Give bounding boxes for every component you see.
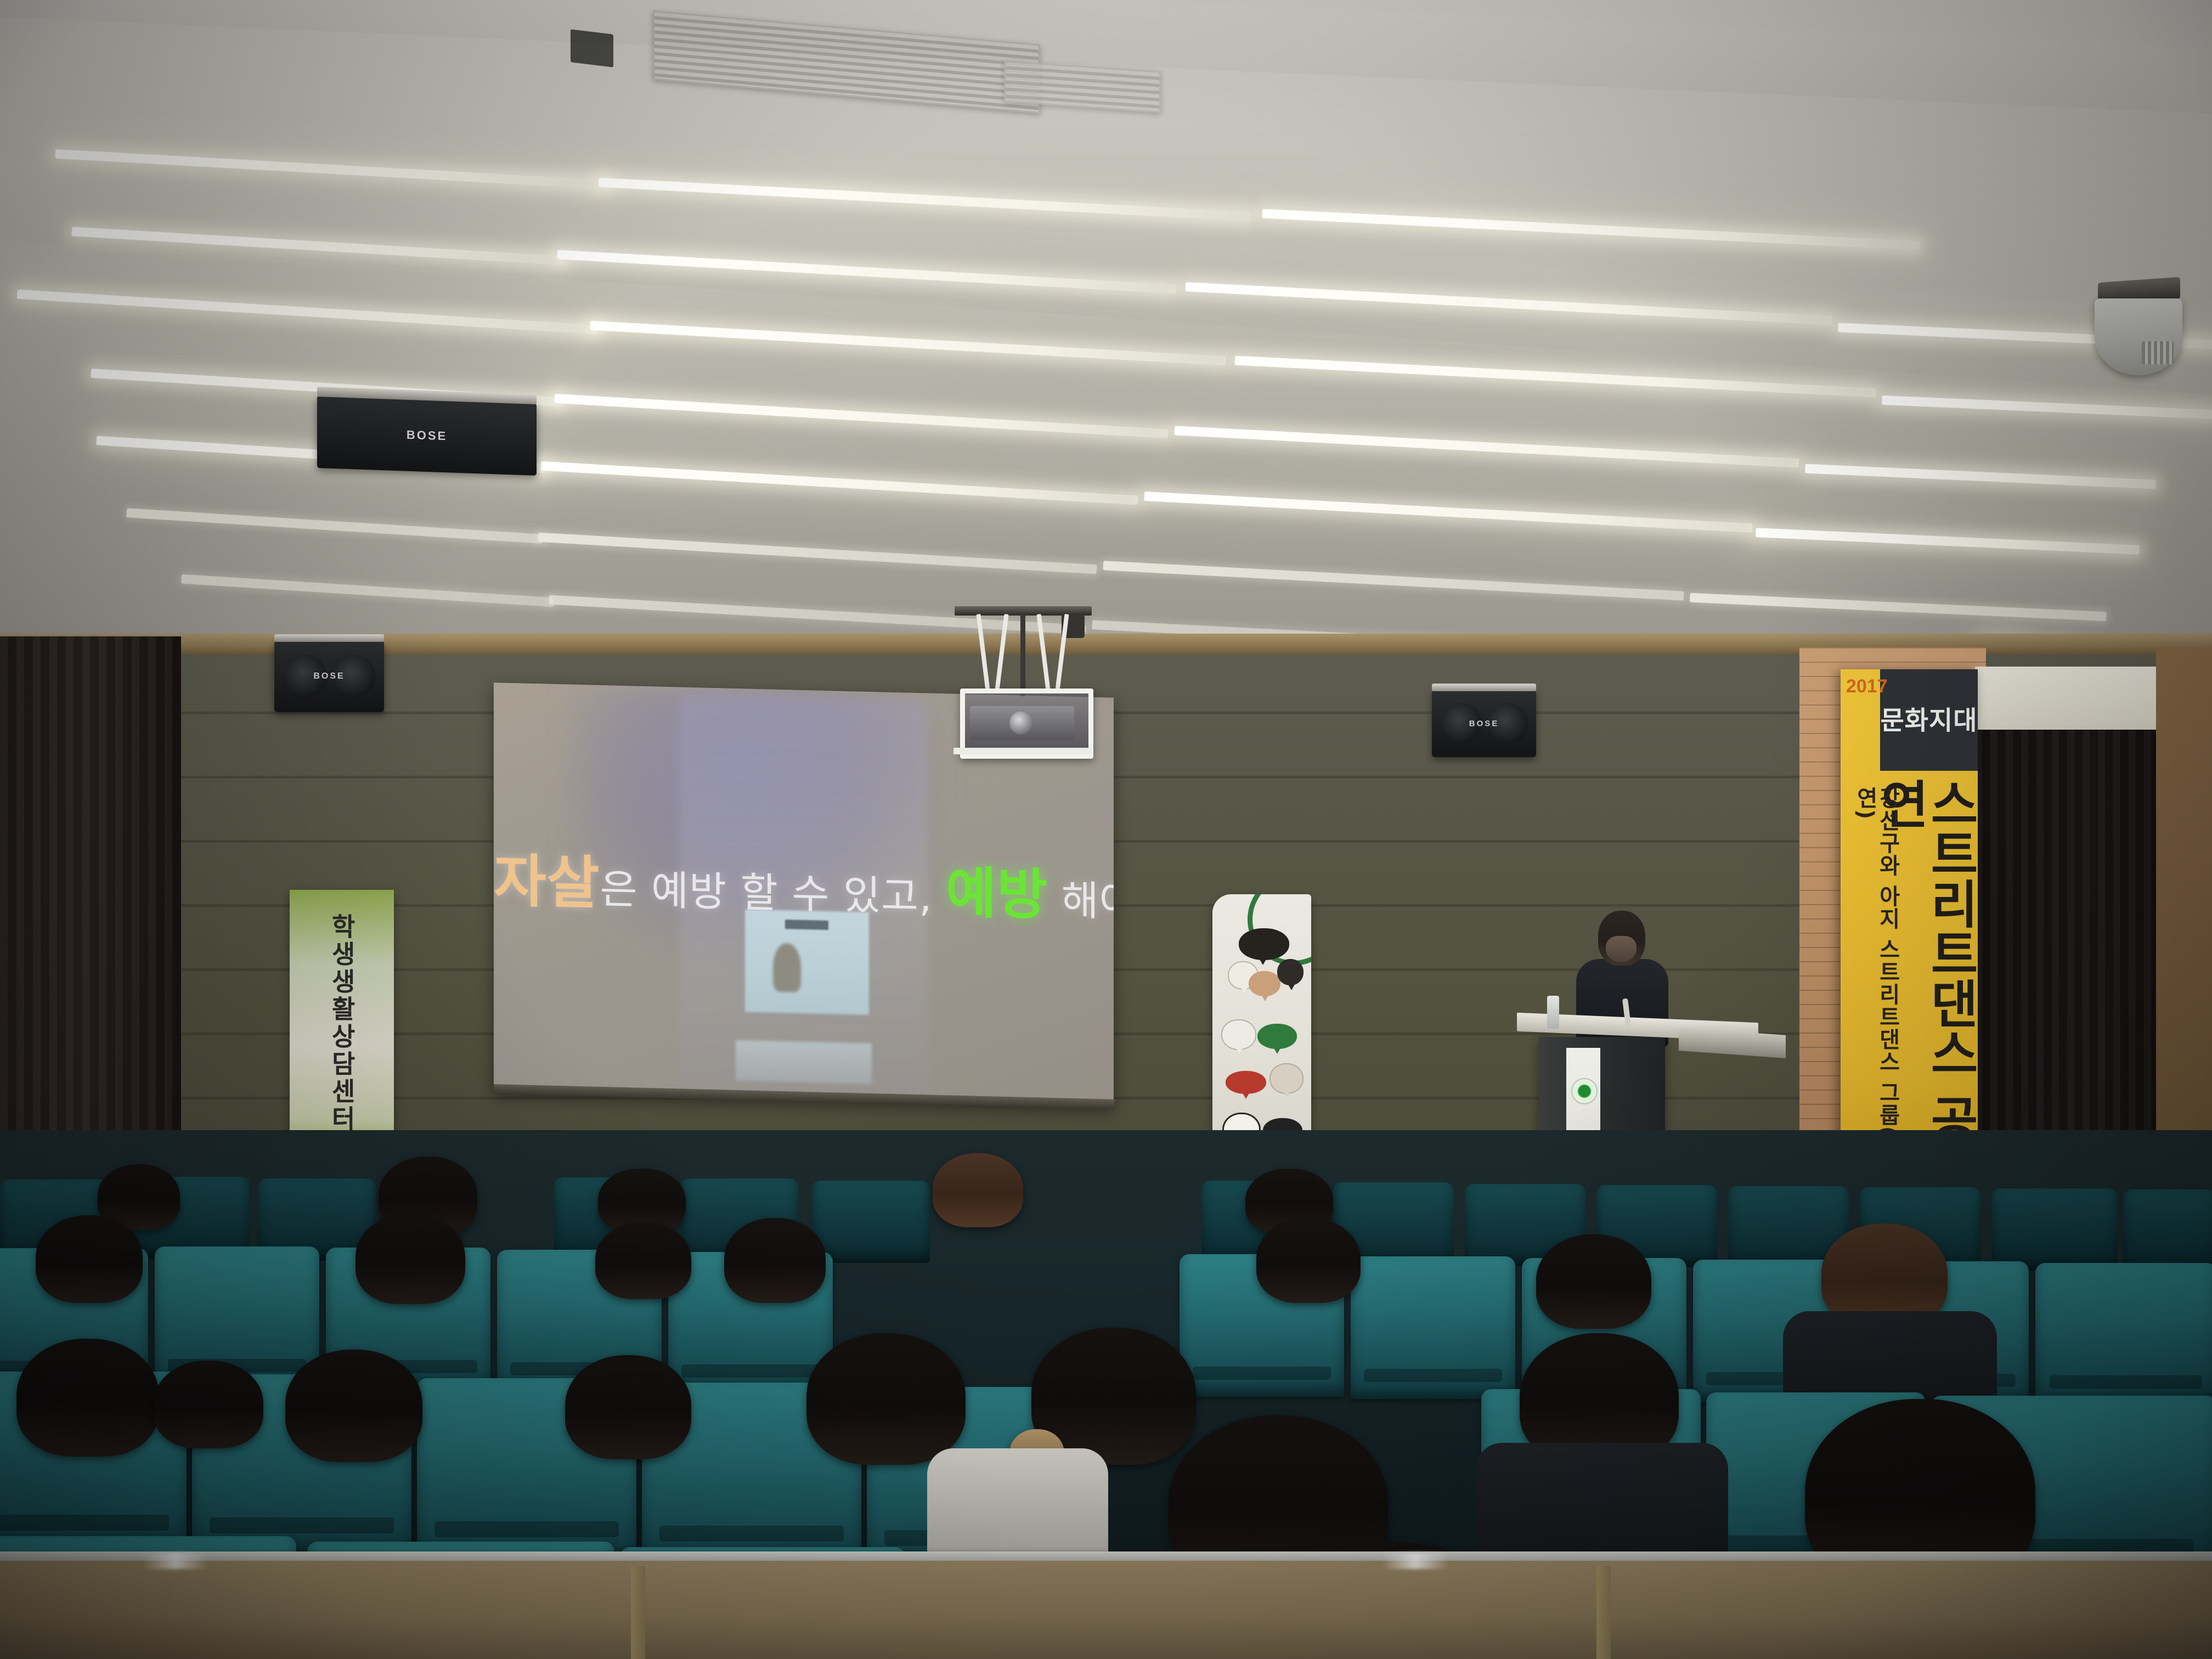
- audience-head: [356, 1214, 465, 1304]
- university-emblem-icon: [1571, 1078, 1598, 1104]
- slide-headline: 자살은 예방 할 수 있고, 예방 해야 합니다.: [494, 852, 1114, 924]
- speech-bubble-black: [1277, 959, 1304, 985]
- audience-head: [36, 1215, 143, 1303]
- ceiling-dome-device: [2085, 280, 2189, 379]
- projector-base-shelf: [953, 748, 1091, 754]
- ceiling-speaker: BOSE: [317, 396, 537, 476]
- banner-subtitle: 강선구와 아지 스트리트댄스 그룹(공연): [1854, 787, 1899, 1180]
- banner-counseling-center-text: 학생생활상담센터: [329, 913, 355, 1133]
- audience-head: [595, 1222, 691, 1299]
- water-bottle: [1547, 996, 1559, 1029]
- speech-bubble-red: [1226, 1071, 1266, 1094]
- banner-year-label: 2017: [1846, 676, 1888, 697]
- auditorium-photo: BOSE BOSE BOSE 자살은 예방 할 수 있고, 예방 해야 합니다.: [0, 0, 2212, 1659]
- speech-bubble-tan: [1249, 971, 1280, 996]
- wall-speaker-left: BOSE: [274, 641, 384, 712]
- slide-text-segment-1: 은 예방 할 수 있고,: [600, 866, 946, 921]
- audience-head: [565, 1355, 691, 1459]
- projector-cable: [1020, 614, 1025, 696]
- audience-head: [285, 1350, 422, 1462]
- speech-bubble-white-2: [1221, 1019, 1256, 1050]
- banner-dark-header-box: 문화지대: [1880, 669, 1978, 771]
- seat: [2035, 1263, 2212, 1406]
- wall-speaker-right: BOSE: [1432, 690, 1536, 757]
- ceiling-projector-assembly: [944, 606, 1108, 771]
- banner-street-dance-performance: 문화지대 2017 스트리트댄스 공연 강선구와 아지 스트리트댄스 그룹(공연…: [1841, 669, 1978, 1180]
- seat-row-far: [1991, 1188, 2118, 1271]
- seat: [1351, 1256, 1515, 1399]
- projector-drop-rod: [976, 614, 990, 691]
- slide-highlight-word-prevention: 예방: [946, 861, 1048, 928]
- foreground-partition-wall: [0, 1561, 2212, 1659]
- projector-lens: [1009, 712, 1032, 735]
- audience-head: [1536, 1234, 1651, 1329]
- railing-highlight: [1383, 1553, 1448, 1569]
- audience-head: [1256, 1218, 1361, 1303]
- railing-highlight: [143, 1553, 208, 1569]
- bose-logo: BOSE: [1469, 719, 1499, 729]
- banner-counseling-center: 학생생활상담센터: [290, 890, 394, 1150]
- projector-drop-rod: [995, 614, 1008, 691]
- audience-shoulders: [927, 1448, 1108, 1569]
- speech-bubble-green: [1257, 1024, 1297, 1049]
- slide-highlight-word-suicide: 자살: [494, 847, 600, 917]
- speech-bubble-dark: [1239, 928, 1289, 960]
- slide-photo-figure: [773, 943, 802, 993]
- dome-vent-grille: [2142, 341, 2174, 364]
- projector-drop-rod: [1036, 614, 1050, 691]
- audience-head: [806, 1333, 966, 1465]
- slide-text-segment-2: 해야 합니다.: [1048, 877, 1114, 929]
- presenter-face: [1606, 936, 1637, 962]
- bose-logo: BOSE: [407, 428, 447, 444]
- audience-head: [16, 1339, 159, 1457]
- railing-post: [1596, 1566, 1611, 1659]
- seat-row-far: [2123, 1189, 2212, 1272]
- slide-photo-door-sign: [785, 920, 828, 930]
- railing-post: [631, 1566, 645, 1659]
- speaker-bracket-left: [274, 634, 384, 642]
- banner-header-text: 문화지대: [1881, 699, 1978, 737]
- speech-bubble-beige: [1269, 1063, 1304, 1094]
- audience-head: [154, 1361, 263, 1448]
- seat-row-far: [812, 1181, 930, 1263]
- audience-head: [933, 1153, 1023, 1227]
- speaker-bracket-right: [1432, 684, 1536, 691]
- bose-logo: BOSE: [313, 672, 345, 681]
- audience-head: [724, 1218, 826, 1303]
- slide-photo-lower-panel: [736, 1040, 872, 1085]
